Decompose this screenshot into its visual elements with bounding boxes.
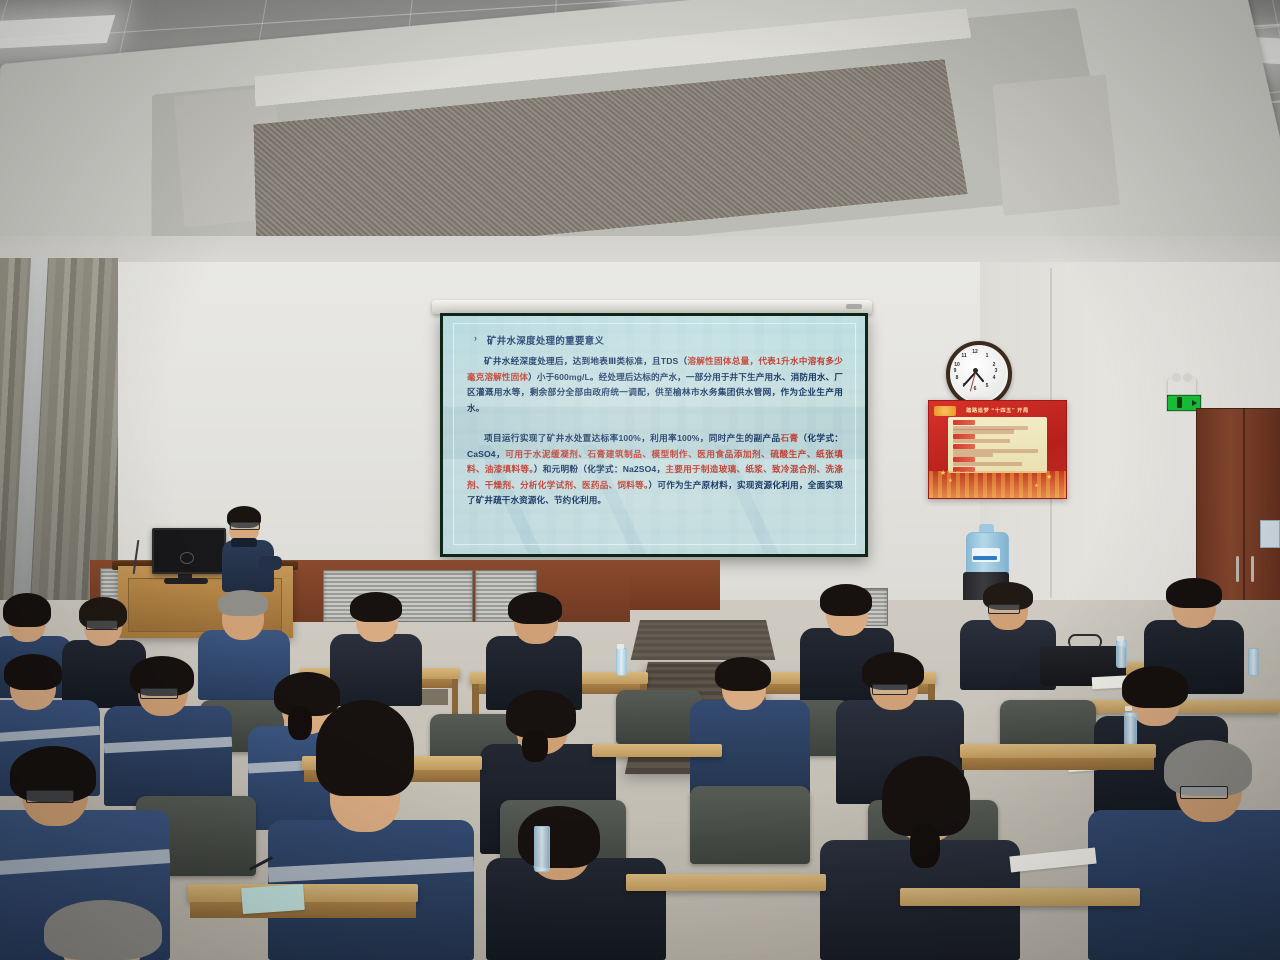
water-bottle[interactable] (616, 648, 627, 676)
water-bottle[interactable] (1248, 648, 1259, 676)
dell-logo-icon (180, 552, 194, 564)
desktop-monitor (152, 528, 226, 574)
bottle-cap (1117, 636, 1124, 641)
poster-star-icon: ★ (940, 469, 946, 477)
slide-p1-part-a: 矿井水经深度处理后，达到地表Ⅲ类标准，且TDS（ (484, 356, 687, 366)
presentation-slide: › 矿井水深度处理的重要意义 矿井水经深度处理后，达到地表Ⅲ类标准，且TDS（溶… (443, 316, 865, 554)
propaganda-poster: 踏路追梦 “十四五” 开局 ★ ★ ★ ★ (928, 400, 1067, 499)
desk (626, 874, 826, 891)
aisle-carpet-far (631, 620, 776, 660)
poster-star-icon: ★ (948, 478, 952, 484)
door-handle[interactable] (1236, 556, 1239, 582)
slide-p2-part-a: 项目运行实现了矿井水处置达标率100%，利用率100%，同时产生的副产品 (484, 433, 780, 443)
desk (960, 744, 1156, 758)
desk (592, 744, 722, 757)
water-bottle-label-bar (973, 556, 997, 560)
clock-number: 5 (982, 383, 992, 389)
chair (690, 786, 810, 864)
ceiling-ac-unit (0, 0, 278, 100)
bottle-cap (617, 644, 624, 649)
clock-number: 8 (952, 375, 962, 381)
monitor-base (164, 578, 208, 584)
projection-screen-housing[interactable] (432, 300, 872, 314)
bottle-cap (1125, 706, 1132, 711)
front-wall-wood-panel (630, 560, 720, 610)
conference-room-photo: › 矿井水深度处理的重要意义 矿井水经深度处理后，达到地表Ⅲ类标准，且TDS（溶… (0, 0, 1280, 960)
slide-paragraph-1: 矿井水经深度处理后，达到地表Ⅲ类标准，且TDS（溶解性固体总量，代表1升水中溶有… (467, 354, 843, 416)
desk (900, 888, 1140, 906)
notebook[interactable] (241, 884, 305, 914)
clock-number: 4 (989, 375, 999, 381)
door-handle[interactable] (1251, 556, 1254, 582)
window-curtain[interactable] (0, 258, 118, 603)
running-man-icon (1177, 397, 1182, 408)
slide-p2-part-c: ）和元明粉（化学式：Na2SO4， (534, 464, 666, 474)
clock-number: 12 (970, 349, 980, 355)
presenter-glasses (230, 522, 260, 530)
slide-title: 矿井水深度处理的重要意义 (487, 333, 604, 347)
slide-p2-highlight-gypsum: 石膏 (780, 433, 798, 443)
poster-star-icon: ★ (1034, 483, 1038, 489)
door-notice-sign (1260, 520, 1280, 548)
water-bottle[interactable] (1116, 640, 1127, 668)
water-bottle[interactable] (1124, 712, 1137, 746)
clock-number: 10 (952, 362, 962, 368)
slide-bullet-chevron-icon: › (474, 333, 477, 343)
water-bottle[interactable] (534, 826, 550, 872)
clock-number: 3 (991, 368, 1001, 374)
wall-clock: 12 1 2 3 4 5 6 7 8 9 10 11 (946, 341, 1012, 407)
poster-content-panel (948, 417, 1047, 473)
desk (1090, 700, 1280, 713)
clock-number: 9 (950, 368, 960, 374)
screen-control-knob[interactable] (846, 304, 862, 309)
poster-star-icon: ★ (1046, 473, 1052, 481)
clock-number: 1 (982, 353, 992, 359)
slide-paragraph-2: 项目运行实现了矿井水处置达标率100%，利用率100%，同时产生的副产品石膏（化… (467, 431, 843, 509)
poster-title: 踏路追梦 “十四五” 开局 (954, 407, 1042, 416)
exit-arrow-icon (1192, 400, 1197, 406)
bag-handle[interactable] (1068, 634, 1102, 649)
clock-number: 11 (959, 353, 969, 359)
clock-center-pin (973, 368, 978, 373)
desk-front (962, 758, 1154, 770)
